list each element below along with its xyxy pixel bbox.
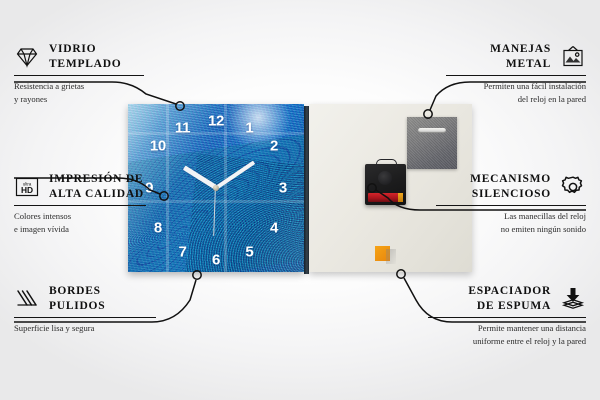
callout-header: MANEJAS METAL <box>446 42 586 71</box>
callout-title: ESPACIADOR DE ESPUMA <box>468 284 551 313</box>
polished-edges-icon <box>14 286 40 312</box>
callout-rule <box>14 205 146 206</box>
callout-rule <box>428 317 586 318</box>
callout-description: Colores intensos e imagen vívida <box>14 210 146 234</box>
quartz-mechanism <box>365 164 406 205</box>
clock-numeral-12: 12 <box>208 114 224 129</box>
clock-numeral-1: 1 <box>245 121 253 136</box>
clock-face-panel: 12 1 2 3 4 5 6 7 8 9 10 11 <box>128 104 304 272</box>
callout-header: ESPACIADOR DE ESPUMA <box>428 284 586 313</box>
callout-description: Resistencia a grietas y rayones <box>14 80 144 104</box>
callout-header: ultra HD IMPRESIÓN DE ALTA CALIDAD <box>14 172 146 201</box>
callout-title: MANEJAS METAL <box>490 42 551 71</box>
callout-description: Permiten una fácil instalación del reloj… <box>446 80 586 104</box>
callout-description: Las manecillas del reloj no emiten ningú… <box>436 210 586 234</box>
callout-description: Superficie lisa y segura <box>14 322 156 334</box>
callout-rule <box>446 75 586 76</box>
callout-title: VIDRIO TEMPLADO <box>49 42 121 71</box>
callout-mecanismo-silencioso: MECANISMO SILENCIOSO Las manecillas del … <box>436 172 586 235</box>
clock-numeral-9: 9 <box>145 181 153 196</box>
mechanism-tab <box>376 159 397 168</box>
callout-manejas-metal: MANEJAS METAL Permiten una fácil instala… <box>446 42 586 105</box>
diamond-icon <box>14 44 40 70</box>
callout-header: BORDES PULIDOS <box>14 284 156 313</box>
callout-header: VIDRIO TEMPLADO <box>14 42 144 71</box>
gear-icon <box>560 174 586 200</box>
battery <box>368 193 403 202</box>
metal-hanger-plate <box>407 117 457 169</box>
product-image: 12 1 2 3 4 5 6 7 8 9 10 11 <box>128 104 472 274</box>
foam-spacer-icon <box>560 286 586 312</box>
clock-numeral-10: 10 <box>150 139 166 154</box>
callout-description: Permite mantener una distancia uniforme … <box>428 322 586 346</box>
callout-header: MECANISMO SILENCIOSO <box>436 172 586 201</box>
mechanism-shaft <box>378 171 392 185</box>
clock-numeral-7: 7 <box>179 244 187 259</box>
callout-impresion-alta-calidad: ultra HD IMPRESIÓN DE ALTA CALIDAD Color… <box>14 172 146 235</box>
callout-title: BORDES PULIDOS <box>49 284 105 313</box>
clock-numeral-2: 2 <box>270 139 278 154</box>
foam-spacer <box>375 246 390 261</box>
callout-rule <box>14 317 156 318</box>
callout-vidrio-templado: VIDRIO TEMPLADO Resistencia a grietas y … <box>14 42 144 105</box>
hanger-slot <box>418 128 446 133</box>
callout-rule <box>14 75 144 76</box>
clock-numeral-4: 4 <box>270 221 278 236</box>
clock-numeral-6: 6 <box>212 253 220 268</box>
ultra-hd-icon: ultra HD <box>14 174 40 200</box>
callout-title: IMPRESIÓN DE ALTA CALIDAD <box>49 172 144 201</box>
infographic-canvas: 12 1 2 3 4 5 6 7 8 9 10 11 <box>0 0 600 400</box>
clock-numeral-8: 8 <box>154 221 162 236</box>
clock-numeral-3: 3 <box>279 181 287 196</box>
clock-numeral-11: 11 <box>175 121 190 136</box>
callout-bordes-pulidos: BORDES PULIDOS Superficie lisa y segura <box>14 284 156 335</box>
callout-rule <box>436 205 586 206</box>
svg-text:HD: HD <box>21 185 33 195</box>
picture-hanger-icon <box>560 44 586 70</box>
battery-cap <box>398 193 403 202</box>
callout-title: MECANISMO SILENCIOSO <box>470 172 551 201</box>
callout-espaciador-espuma: ESPACIADOR DE ESPUMA Permite mantener un… <box>428 284 586 347</box>
clock-hand-cap <box>213 185 219 191</box>
clock-numeral-5: 5 <box>245 244 253 259</box>
